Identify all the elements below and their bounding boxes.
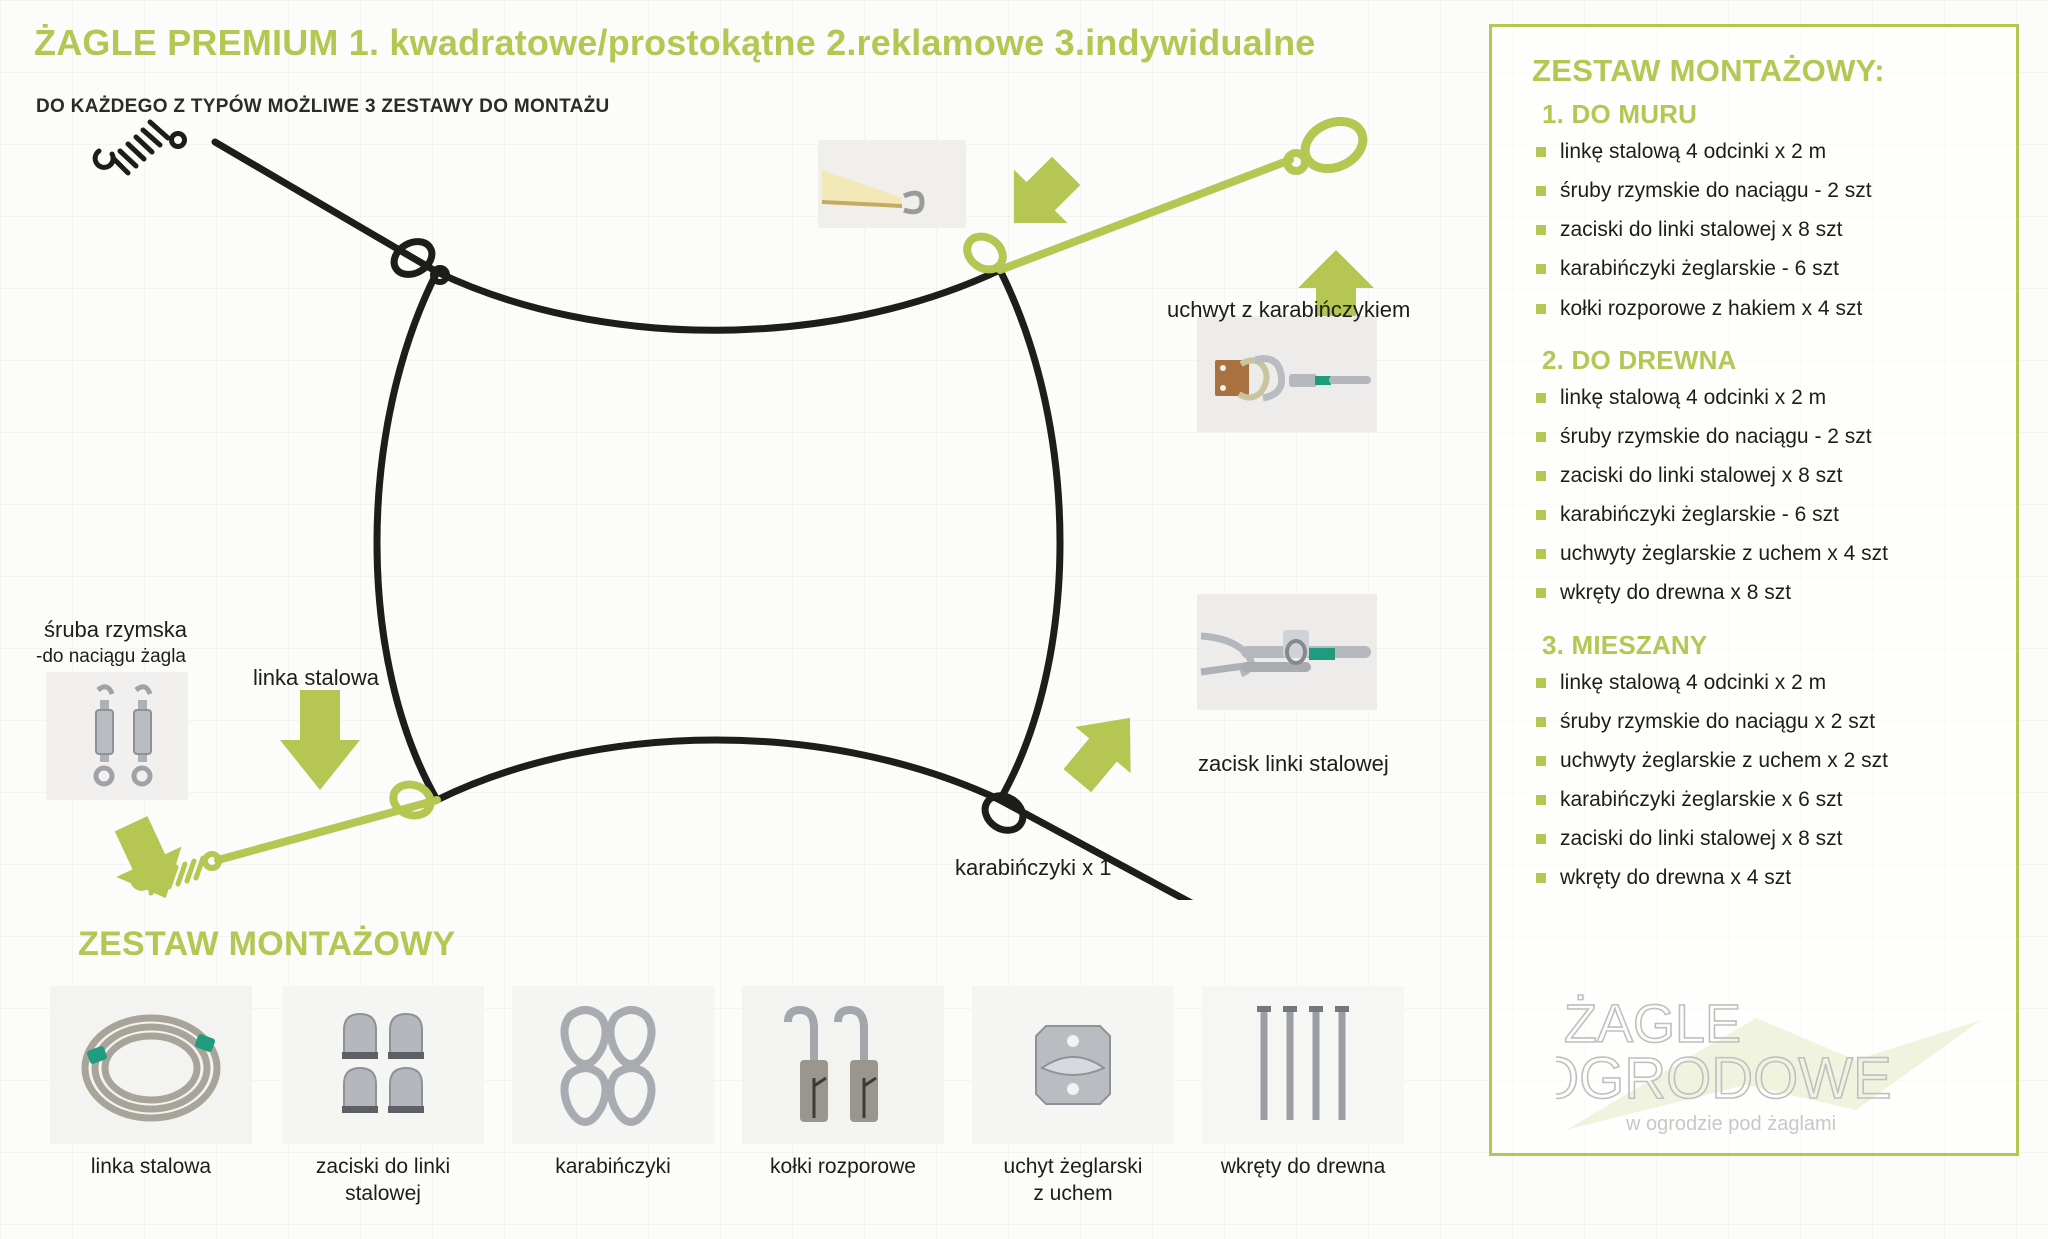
kit-item-label: kołki rozporowe z hakiem x 4 szt [1560, 297, 1862, 320]
kit-section-3: 3. MIESZANY linkę stalową 4 odcinki x 2 … [1514, 630, 1994, 891]
kit-list-item: kołki rozporowe z hakiem x 4 szt [1522, 297, 1994, 321]
kit-section-heading: 2. DO DREWNA [1542, 345, 1994, 376]
bullet-icon [1536, 717, 1546, 727]
kit-item-label: śruby rzymskie do naciągu - 2 szt [1560, 425, 1872, 448]
wood-screws-photo [1202, 986, 1404, 1144]
kit-item-label: uchwyty żeglarskie z uchem x 4 szt [1560, 542, 1888, 565]
kit-item-label: wkręty do drewna x 4 szt [1560, 866, 1791, 889]
kit-list-item: uchwyty żeglarskie z uchem x 2 szt [1522, 749, 1994, 773]
kit-item-label: zaciski do linki stalowej x 8 szt [1560, 827, 1842, 850]
product-card: zaciski do linkistalowej [282, 986, 484, 1208]
bullet-icon [1536, 795, 1546, 805]
bracket-carabiner-photo [1197, 316, 1377, 432]
kit-list-item: wkręty do drewna x 4 szt [1522, 866, 1994, 890]
bullet-icon [1536, 432, 1546, 442]
kit-list-item: zaciski do linki stalowej x 8 szt [1522, 464, 1994, 488]
kit-list-item: linkę stalową 4 odcinki x 2 m [1522, 140, 1994, 164]
kit-section-heading: 1. DO MURU [1542, 99, 1994, 130]
carabiners-photo [512, 986, 714, 1144]
kit-item-label: karabińczyki żeglarskie - 6 szt [1560, 257, 1839, 280]
eye-plate-photo [972, 986, 1174, 1144]
cable-clamp-photo [1197, 594, 1377, 710]
kit-section-2: 2. DO DREWNA linkę stalową 4 odcinki x 2… [1514, 345, 1994, 606]
assembly-kit-panel: ZESTAW MONTAŻOWY: 1. DO MURU linkę stalo… [1489, 24, 2019, 1156]
kit-item-label: śruby rzymskie do naciągu - 2 szt [1560, 179, 1872, 202]
label-cable-clamp: zacisk linki stalowej [1198, 751, 1389, 777]
kit-item-label: wkręty do drewna x 8 szt [1560, 581, 1791, 604]
kit-item-label: linkę stalową 4 odcinki x 2 m [1560, 140, 1826, 163]
kit-list-item: wkręty do drewna x 8 szt [1522, 581, 1994, 605]
label-turnbuckle-subtitle: -do naciągu żagla [36, 646, 186, 668]
kit-item-label: karabińczyki żeglarskie - 6 szt [1560, 503, 1839, 526]
arrow-icon-to-turnbuckle [98, 809, 198, 900]
label-carabiners-count: karabińczyki x 1 [955, 855, 1112, 881]
bullet-icon [1536, 873, 1546, 883]
product-strip: linka stalowa zaci [0, 986, 1470, 1236]
kit-item-label: linkę stalową 4 odcinki x 2 m [1560, 671, 1826, 694]
label-bracket-with-carabiner: uchwyt z karabińczykiem [1167, 297, 1410, 323]
product-caption: wkręty do drewna [1202, 1154, 1404, 1181]
cable-clamps-photo [282, 986, 484, 1144]
steel-cable-coil-photo [50, 986, 252, 1144]
bullet-icon [1536, 186, 1546, 196]
arrow-icon-to-top-right-corner [987, 144, 1093, 250]
product-card: kołki rozporowe [742, 986, 944, 1181]
product-caption: linka stalowa [50, 1154, 252, 1181]
kit-list-item: linkę stalową 4 odcinki x 2 m [1522, 671, 1994, 695]
product-caption: karabińczyki [512, 1154, 714, 1181]
page-title: ŻAGLE PREMIUM 1. kwadratowe/prostokątne … [34, 22, 1316, 64]
top-left-cable-run [95, 122, 447, 282]
poster-stage: ŻAGLE PREMIUM 1. kwadratowe/prostokątne … [0, 0, 2048, 1239]
kit-item-label: śruby rzymskie do naciągu x 2 szt [1560, 710, 1875, 733]
expansion-hooks-photo [742, 986, 944, 1144]
kit-list-item: karabińczyki żeglarskie - 6 szt [1522, 257, 1994, 281]
kit-item-label: zaciski do linki stalowej x 8 szt [1560, 464, 1842, 487]
kit-list-item: śruby rzymskie do naciągu x 2 szt [1522, 710, 1994, 734]
kit-list-item: linkę stalową 4 odcinki x 2 m [1522, 386, 1994, 410]
product-card: karabińczyki [512, 986, 714, 1181]
kit-list-item: uchwyty żeglarskie z uchem x 4 szt [1522, 542, 1994, 566]
sail-corner-photo [818, 140, 966, 228]
product-caption: uchyt żeglarskiz uchem [972, 1154, 1174, 1208]
kit-panel-title: ZESTAW MONTAŻOWY: [1532, 53, 1994, 89]
kit-list: linkę stalową 4 odcinki x 2 m śruby rzym… [1514, 386, 1994, 606]
kit-list-item: karabińczyki żeglarskie x 6 szt [1522, 788, 1994, 812]
sail-outline [377, 270, 1060, 800]
bullet-icon [1536, 510, 1546, 520]
kit-section-1: 1. DO MURU linkę stalową 4 odcinki x 2 m… [1514, 99, 1994, 321]
kit-list-item: zaciski do linki stalowej x 8 szt [1522, 218, 1994, 242]
kit-item-label: karabińczyki żeglarskie x 6 szt [1560, 788, 1842, 811]
arrow-icon-to-cable [280, 690, 360, 790]
kit-list-item: śruby rzymskie do naciągu - 2 szt [1522, 425, 1994, 449]
kit-list: linkę stalową 4 odcinki x 2 m śruby rzym… [1514, 671, 1994, 891]
product-card: uchyt żeglarskiz uchem [972, 986, 1174, 1208]
product-card: wkręty do drewna [1202, 986, 1404, 1181]
kit-item-label: linkę stalową 4 odcinki x 2 m [1560, 386, 1826, 409]
bullet-icon [1536, 471, 1546, 481]
kit-list-item: karabińczyki żeglarskie - 6 szt [1522, 503, 1994, 527]
product-card: linka stalowa [50, 986, 252, 1181]
bullet-icon [1536, 304, 1546, 314]
label-steel-cable: linka stalowa [253, 665, 379, 691]
label-turnbuckle-title: śruba rzymska [44, 617, 187, 643]
kit-item-label: zaciski do linki stalowej x 8 szt [1560, 218, 1842, 241]
bullet-icon [1536, 834, 1546, 844]
bullet-icon [1536, 678, 1546, 688]
kit-list: linkę stalową 4 odcinki x 2 m śruby rzym… [1514, 140, 1994, 321]
bullet-icon [1536, 225, 1546, 235]
bullet-icon [1536, 393, 1546, 403]
product-caption: kołki rozporowe [742, 1154, 944, 1181]
bullet-icon [1536, 549, 1546, 559]
arrow-icon-to-cable-clamp [1050, 695, 1158, 804]
bottom-right-cable-run [979, 789, 1352, 900]
sail-installation-diagram [0, 100, 1470, 900]
kit-list-item: zaciski do linki stalowej x 8 szt [1522, 827, 1994, 851]
turnbuckle-photo [46, 672, 188, 800]
product-caption: zaciski do linkistalowej [282, 1154, 484, 1208]
bullet-icon [1536, 756, 1546, 766]
kit-list-item: śruby rzymskie do naciągu - 2 szt [1522, 179, 1994, 203]
kit-section-heading: 3. MIESZANY [1542, 630, 1994, 661]
bullet-icon [1536, 264, 1546, 274]
bullet-icon [1536, 588, 1546, 598]
bullet-icon [1536, 147, 1546, 157]
kit-item-label: uchwyty żeglarskie z uchem x 2 szt [1560, 749, 1888, 772]
left-kit-heading: ZESTAW MONTAŻOWY [78, 925, 456, 964]
